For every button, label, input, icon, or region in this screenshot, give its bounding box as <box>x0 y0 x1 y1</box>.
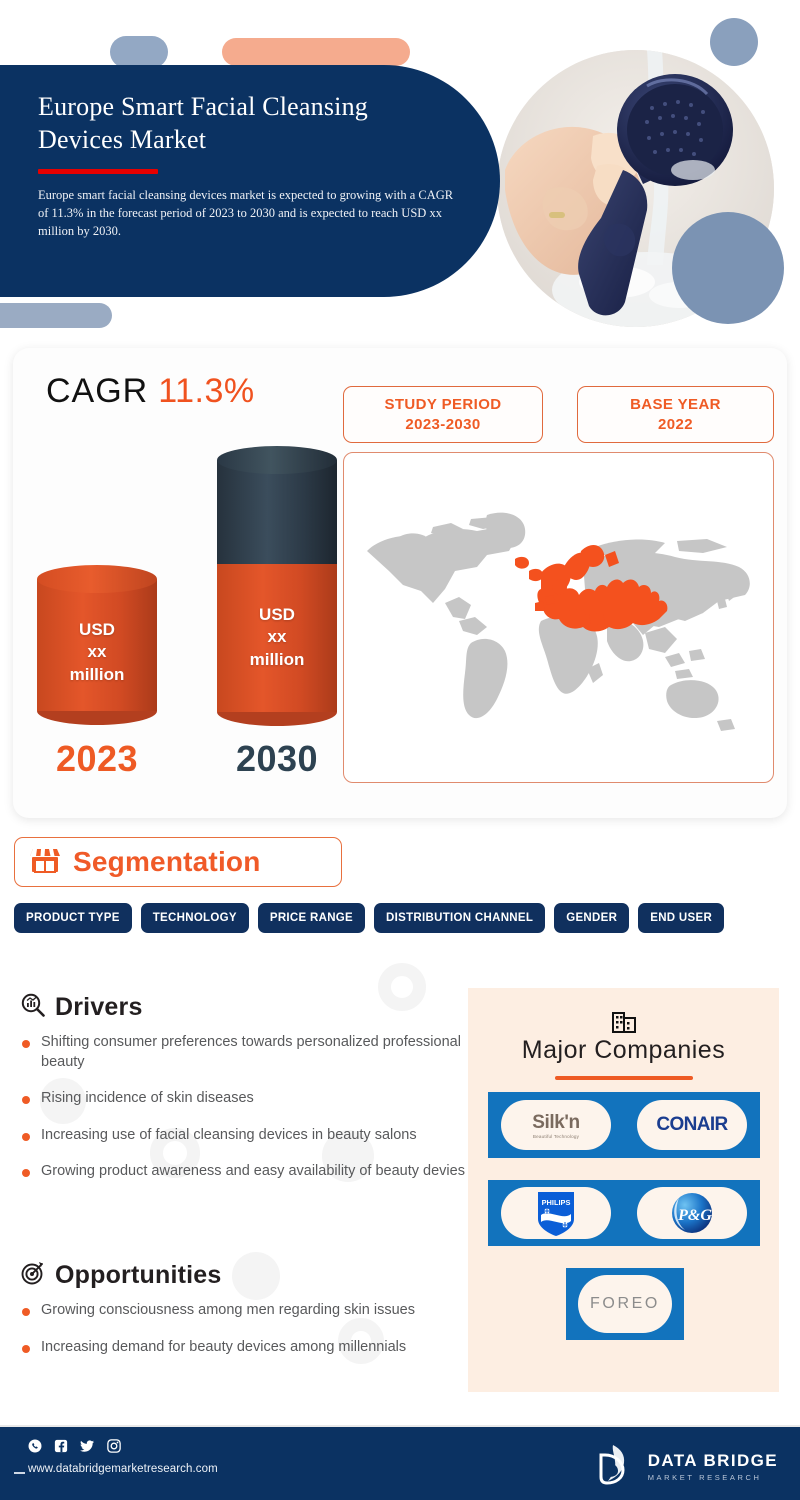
driver-item-3: Increasing use of facial cleansing devic… <box>41 1126 417 1146</box>
decor-peach-pill <box>222 38 410 66</box>
decor-ghost-circle-3 <box>232 1252 280 1300</box>
logo-silkn-tagline: Beautiful Technology <box>533 1134 579 1139</box>
bar-2030-line-3: million <box>217 649 337 671</box>
infographic-page: Europe Smart Facial Cleansing Devices Ma… <box>0 0 800 1500</box>
bullet-dot-icon <box>22 1096 30 1104</box>
decor-blue-circle-large <box>672 212 784 324</box>
decor-left-bar <box>0 303 112 328</box>
decor-blue-pill <box>110 36 168 68</box>
bar-2023-line-3: million <box>37 664 157 686</box>
segmentation-pill-end-user[interactable]: END USER <box>638 903 724 933</box>
target-icon <box>20 1260 46 1291</box>
segmentation-pill-distribution-channel[interactable]: DISTRIBUTION CHANNEL <box>374 903 545 933</box>
major-companies-underline <box>555 1076 693 1080</box>
drivers-header: Drivers <box>20 992 143 1023</box>
bar-2023-line-1: USD <box>37 619 157 641</box>
logo-foreo-name: FOREO <box>590 1295 660 1313</box>
brand-subtitle: MARKET RESEARCH <box>648 1473 778 1482</box>
segmentation-pill-gender[interactable]: GENDER <box>554 903 629 933</box>
driver-item-4: Growing product awareness and easy avail… <box>41 1162 465 1182</box>
study-period-value: 2023-2030 <box>344 415 542 434</box>
data-bridge-mark-icon <box>599 1443 639 1490</box>
drivers-list: Shifting consumer preferences towards pe… <box>22 1033 472 1199</box>
world-map-box <box>343 452 774 783</box>
base-year-label: BASE YEAR <box>578 395 773 414</box>
footer: www.databridgemarketresearch.com DATA BR… <box>0 1427 800 1500</box>
pg-moon-icon: P&G <box>669 1190 715 1236</box>
stats-card: CAGR 11.3% STUDY PERIOD 2023-2030 BASE Y… <box>13 348 787 818</box>
driver-item-2: Rising incidence of skin diseases <box>41 1089 254 1109</box>
opportunity-item-2: Increasing demand for beauty devices amo… <box>41 1338 406 1358</box>
logo-foreo: FOREO <box>578 1275 672 1333</box>
world-map <box>359 493 759 743</box>
bar-2030-value-label: USD xx million <box>217 604 337 671</box>
logo-row-2: PHILIPS <box>488 1180 760 1246</box>
cagr-value: 11.3% <box>158 372 254 411</box>
decor-ghost-ring-1 <box>378 963 426 1011</box>
drivers-title: Drivers <box>55 993 143 1022</box>
title-underline <box>38 169 158 174</box>
bar-2030-line-2: xx <box>217 626 337 648</box>
bar-2023-year: 2023 <box>37 738 157 780</box>
opportunities-header: Opportunities <box>20 1260 221 1291</box>
bar-2030: USD xx million <box>217 446 337 726</box>
bullet-dot-icon <box>22 1345 30 1353</box>
list-item: Shifting consumer preferences towards pe… <box>22 1033 472 1072</box>
segmentation-pill-product-type[interactable]: PRODUCT TYPE <box>14 903 132 933</box>
hero-description: Europe smart facial cleansing devices ma… <box>38 186 458 240</box>
segmentation-pill-price-range[interactable]: PRICE RANGE <box>258 903 365 933</box>
brand-logo: DATA BRIDGE MARKET RESEARCH <box>599 1443 778 1490</box>
cagr-block: CAGR 11.3% <box>46 372 255 411</box>
segmentation-title: Segmentation <box>73 846 261 878</box>
bar-2030-cap <box>217 446 337 474</box>
base-year-box: BASE YEAR 2022 <box>577 386 774 443</box>
cagr-label: CAGR <box>46 372 148 411</box>
bar-2030-body-top <box>217 460 337 564</box>
list-item: Growing consciousness among men regardin… <box>22 1301 472 1321</box>
major-companies-title: Major Companies <box>468 1036 779 1065</box>
bullet-dot-icon <box>22 1133 30 1141</box>
page-title: Europe Smart Facial Cleansing Devices Ma… <box>38 91 430 157</box>
logo-silkn-name: Silk'n <box>532 1112 580 1134</box>
bar-2030-line-1: USD <box>217 604 337 626</box>
storefront-icon <box>29 844 61 881</box>
social-links <box>28 1439 121 1458</box>
bar-2023-line-2: xx <box>37 641 157 663</box>
list-item: Increasing use of facial cleansing devic… <box>22 1126 472 1146</box>
logo-pg: P&G <box>637 1187 747 1239</box>
logo-row-1: Silk'n Beautiful Technology CONAIR <box>488 1092 760 1158</box>
decor-blue-circle-top <box>710 18 758 66</box>
logo-philips: PHILIPS <box>501 1187 611 1239</box>
whatsapp-icon[interactable] <box>28 1439 42 1458</box>
bar-2030-year: 2030 <box>217 738 337 780</box>
footer-url[interactable]: www.databridgemarketresearch.com <box>28 1463 218 1475</box>
segmentation-pills: PRODUCT TYPE TECHNOLOGY PRICE RANGE DIST… <box>14 903 724 933</box>
bullet-dot-icon <box>22 1169 30 1177</box>
instagram-icon[interactable] <box>107 1439 121 1458</box>
logo-row-3: FOREO <box>566 1268 684 1340</box>
segmentation-pill-technology[interactable]: TECHNOLOGY <box>141 903 249 933</box>
list-item: Growing product awareness and easy avail… <box>22 1162 472 1182</box>
facebook-icon[interactable] <box>54 1439 68 1458</box>
driver-item-1: Shifting consumer preferences towards pe… <box>41 1033 472 1072</box>
opportunity-item-1: Growing consciousness among men regardin… <box>41 1301 415 1321</box>
study-period-box: STUDY PERIOD 2023-2030 <box>343 386 543 443</box>
philips-shield-icon: PHILIPS <box>535 1189 577 1237</box>
study-period-label: STUDY PERIOD <box>344 395 542 414</box>
bullet-dot-icon <box>22 1040 30 1048</box>
brand-text: DATA BRIDGE MARKET RESEARCH <box>648 1452 778 1482</box>
bullet-dot-icon <box>22 1308 30 1316</box>
svg-text:PHILIPS: PHILIPS <box>542 1198 571 1207</box>
twitter-icon[interactable] <box>80 1439 95 1458</box>
opportunities-list: Growing consciousness among men regardin… <box>22 1301 472 1374</box>
segmentation-header: Segmentation <box>14 837 342 887</box>
base-year-value: 2022 <box>578 415 773 434</box>
footer-url-dash <box>14 1472 25 1474</box>
hero-panel: Europe Smart Facial Cleansing Devices Ma… <box>0 65 500 297</box>
bar-2023-value-label: USD xx million <box>37 619 157 686</box>
magnifier-chart-icon <box>20 992 46 1023</box>
opportunities-title: Opportunities <box>55 1261 221 1290</box>
svg-text:P&G: P&G <box>677 1207 712 1224</box>
list-item: Increasing demand for beauty devices amo… <box>22 1338 472 1358</box>
list-item: Rising incidence of skin diseases <box>22 1089 472 1109</box>
major-companies-panel: Major Companies Silk'n Beautiful Technol… <box>468 988 779 1392</box>
logo-conair-name: CONAIR <box>656 1114 727 1136</box>
bar-2023-cap <box>37 565 157 593</box>
bar-2023: USD xx million <box>37 565 157 725</box>
logo-silkn: Silk'n Beautiful Technology <box>501 1100 611 1150</box>
brand-name: DATA BRIDGE <box>648 1452 778 1469</box>
logo-conair: CONAIR <box>637 1100 747 1150</box>
